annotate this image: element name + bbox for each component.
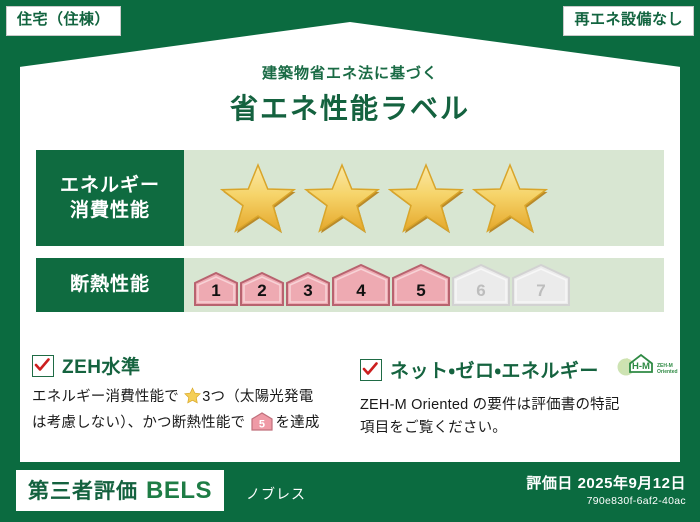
footer-evaluation-label: 第三者評価 (28, 475, 138, 505)
label-footer: 第三者評価 BELS ノブレス 評価日 2025年9月12日 790e830f-… (0, 464, 700, 522)
footer-date-label: 評価日 (526, 475, 573, 492)
insulation-badge-5: 5 (392, 264, 450, 306)
row-energy-consumption: エネルギー 消費性能 (36, 150, 664, 246)
renewable-equipment-tag: 再エネ設備なし (563, 6, 694, 36)
house-badge-shape (392, 264, 450, 306)
zeh-desc-line2b: を達成 (275, 415, 319, 431)
check-nze-description: ZEH-M Oriented の要件は評価書の特記 項目をご覧ください。 (360, 394, 668, 441)
zeh-m-oriented-logo-icon: H-M ZEH-M Oriented (613, 352, 685, 387)
footer-evaluation-meta: 評価日 2025年9月12日 790e830f-6af2-40ac (526, 472, 686, 507)
star-icon (388, 162, 464, 234)
house-badge-shape (240, 272, 284, 306)
checkbox-checked-icon (32, 355, 54, 377)
footer-company-name: ノブレス (246, 484, 306, 504)
star-icon (472, 162, 548, 234)
bels-label: 住宅（住棟） 再エネ設備なし 建築物省エネ法に基づく 省エネ性能ラベル エネルギ… (0, 0, 700, 522)
nze-desc-line2: 項目をご覧ください。 (360, 420, 507, 436)
footer-scheme-box: 第三者評価 BELS (16, 470, 224, 511)
check-zeh-level: ZEH水準 エネルギー消費性能で 3つ（太陽光発電 は考慮しない）、かつ断熱性能… (32, 352, 350, 441)
inline-star-icon (180, 392, 201, 408)
check-nze-title: ネット・ゼロ・エネルギー (390, 356, 599, 383)
insulation-grade-badges: 1234567 (194, 264, 570, 306)
insulation-badge-4: 4 (332, 264, 390, 306)
star-rating (220, 162, 548, 234)
inline-grade-badge-icon: 5 (247, 419, 273, 435)
row-insulation-value: 1234567 (184, 258, 664, 312)
svg-text:5: 5 (259, 419, 265, 431)
label-title-block: 建築物省エネ法に基づく 省エネ性能ラベル (0, 62, 700, 127)
insulation-badge-1: 1 (194, 264, 238, 306)
row-insulation-label-line1: 断熱性能 (70, 272, 150, 297)
row-insulation: 断熱性能 1234567 (36, 258, 664, 312)
checkbox-checked-icon (360, 359, 382, 381)
house-badge-shape (332, 264, 390, 306)
building-type-tag: 住宅（住棟） (6, 6, 121, 36)
insulation-badge-7: 7 (512, 264, 570, 306)
row-energy-label: エネルギー 消費性能 (36, 150, 184, 246)
star-icon (220, 162, 296, 234)
row-energy-label-line2: 消費性能 (70, 198, 150, 223)
footer-date-value: 2025年9月12日 (578, 475, 686, 492)
row-insulation-label: 断熱性能 (36, 258, 184, 312)
footer-record-id: 790e830f-6af2-40ac (526, 495, 686, 507)
label-subtitle: 建築物省エネ法に基づく (0, 62, 700, 83)
criteria-checks: ZEH水準 エネルギー消費性能で 3つ（太陽光発電 は考慮しない）、かつ断熱性能… (32, 352, 668, 441)
svg-text:H-M: H-M (632, 361, 650, 372)
footer-evaluation-date: 評価日 2025年9月12日 (526, 472, 686, 493)
check-nze-header: ネット・ゼロ・エネルギー H-M ZEH-M Oriented (360, 352, 668, 387)
check-zeh-header: ZEH水準 (32, 352, 336, 379)
zeh-desc-part1: エネルギー消費性能で (32, 389, 179, 405)
rating-rows: エネルギー 消費性能 断熱性能 1234567 (36, 150, 664, 324)
zeh-desc-count: 3つ（太陽光発電 (202, 389, 313, 405)
check-zeh-title: ZEH水準 (62, 352, 141, 379)
house-badge-shape (452, 264, 510, 306)
row-energy-value (184, 150, 664, 246)
svg-text:Oriented: Oriented (657, 369, 678, 375)
house-badge-shape (194, 272, 238, 306)
check-zeh-description: エネルギー消費性能で 3つ（太陽光発電 は考慮しない）、かつ断熱性能で 5 を達… (32, 386, 336, 440)
insulation-badge-3: 3 (286, 264, 330, 306)
insulation-badge-2: 2 (240, 264, 284, 306)
check-net-zero-energy: ネット・ゼロ・エネルギー H-M ZEH-M Oriented (350, 352, 668, 441)
zeh-desc-line2a: は考慮しない）、かつ断熱性能で (32, 415, 245, 431)
star-icon (304, 162, 380, 234)
label-main-title: 省エネ性能ラベル (0, 87, 700, 127)
house-badge-shape (512, 264, 570, 306)
house-badge-shape (286, 272, 330, 306)
insulation-badge-6: 6 (452, 264, 510, 306)
footer-scheme-name: BELS (146, 477, 212, 505)
nze-desc-line1: ZEH-M Oriented の要件は評価書の特記 (360, 397, 620, 413)
row-energy-label-line1: エネルギー (60, 173, 160, 198)
